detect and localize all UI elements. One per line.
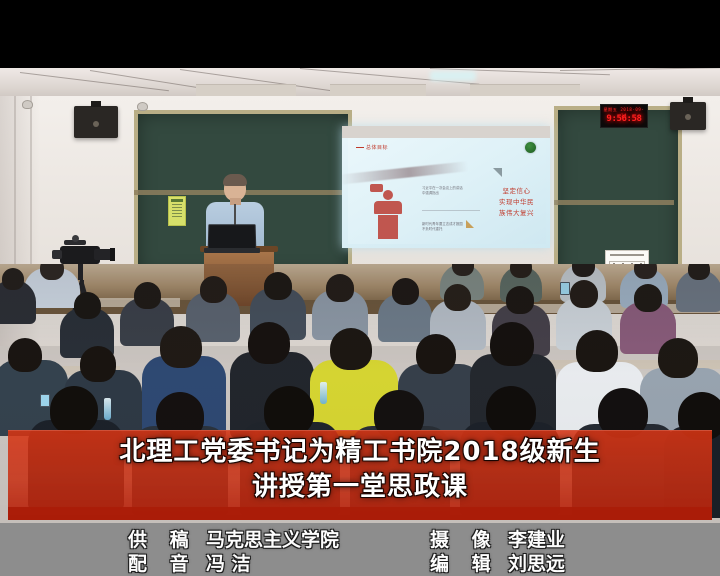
audience-member-head — [264, 272, 292, 300]
audience-member-head — [2, 268, 24, 290]
credit-value: 冯 洁 — [206, 549, 251, 576]
slide-triangle-decoration — [493, 168, 502, 177]
slide-divider — [422, 210, 480, 211]
audience-member-head — [8, 338, 42, 372]
lecturer-hair — [223, 174, 247, 186]
laptop-base — [204, 248, 260, 253]
audience-member-head — [248, 322, 290, 364]
broadcast-frame: 总体目标 习近平在一次会议上的讲话 中强调指出 新时代青年要立志成才报国 不负时… — [0, 0, 720, 576]
audience-member-head — [576, 330, 618, 372]
projector-screen: 总体目标 习近平在一次会议上的讲话 中强调指出 新时代青年要立志成才报国 不负时… — [342, 126, 550, 248]
slide-right-text: 坚定信心 实现中华民 族伟大复兴 — [499, 186, 534, 219]
credit-label: 编 辑 — [430, 549, 508, 576]
letterbox-top — [0, 0, 720, 68]
water-bottle — [320, 382, 327, 404]
audience-member-head — [490, 322, 534, 366]
audience-member-head — [486, 386, 536, 436]
slide-logo-icon — [525, 142, 536, 153]
slide-paragraph-1: 习近平在一次会议上的讲话 中强调指出 — [422, 186, 482, 196]
audience-member-head — [80, 346, 116, 382]
slide-top-bar — [342, 126, 550, 138]
audience-member-head — [134, 282, 161, 309]
credits-column-right: 摄 像 李建业 编 辑 刘思远 — [430, 525, 565, 573]
credit-label: 配 音 — [128, 549, 206, 576]
phone-screen — [40, 394, 50, 407]
audience-member-head — [330, 328, 372, 370]
audience-member-head — [200, 276, 227, 303]
slide-triangle-decoration — [466, 220, 474, 228]
credit-value: 马克思主义学院 — [206, 525, 339, 552]
audience-member-head — [688, 264, 710, 280]
credit-value: 李建业 — [508, 525, 565, 552]
credit-label: 摄 像 — [430, 525, 508, 552]
wall-speaker — [74, 106, 118, 138]
chalkboard-rail — [554, 200, 674, 205]
water-bottle — [104, 398, 111, 420]
credit-row: 编 辑 刘思远 — [430, 549, 565, 573]
title-banner: 北理工党委书记为精工书院2018级新生 讲授第一堂思政课 — [8, 430, 712, 520]
wall-seam — [14, 96, 16, 286]
slide-right-line: 坚定信心 — [499, 186, 534, 197]
audience-member-head — [40, 264, 64, 280]
led-clock-display: 星期五 2018-09-14 9:56:58 — [600, 104, 648, 128]
wall-seam — [30, 96, 32, 286]
ceiling-light — [430, 71, 476, 81]
audience-member-head — [74, 292, 101, 319]
wall-camera-icon — [137, 102, 148, 111]
audience-member-head — [416, 334, 456, 374]
slide-body: 总体目标 习近平在一次会议上的讲话 中强调指出 新时代青年要立志成才报国 不负时… — [348, 138, 546, 244]
slide-right-line: 族伟大复兴 — [499, 208, 534, 219]
slide-podium-illustration — [370, 184, 406, 242]
audience-member-head — [326, 274, 354, 302]
slide-right-line: 实现中华民 — [499, 197, 534, 208]
credit-row: 配 音 冯 洁 — [128, 549, 339, 573]
audience-member-head — [160, 326, 202, 368]
audience-member-head — [506, 286, 534, 314]
wall-camera-icon — [22, 100, 33, 109]
credit-row: 摄 像 李建业 — [430, 525, 565, 549]
led-clock-time: 9:56:58 — [603, 114, 645, 124]
slide-swoosh — [342, 161, 468, 185]
notice-sign — [168, 196, 186, 226]
title-line-2: 讲授第一堂思政课 — [8, 472, 712, 502]
audience-member-head — [634, 284, 662, 312]
banner-foot — [8, 507, 712, 520]
slide-heading: 总体目标 — [356, 144, 388, 151]
audience-member-head — [658, 338, 698, 378]
credit-row: 供 稿 马克思主义学院 — [128, 525, 339, 549]
phone-screen — [560, 282, 570, 295]
wall-speaker — [670, 102, 706, 130]
audience-member-head — [50, 386, 98, 434]
title-line-1: 北理工党委书记为精工书院2018级新生 — [8, 437, 712, 467]
audience-member-head — [444, 284, 471, 311]
credits-bar: 供 稿 马克思主义学院 配 音 冯 洁 摄 像 李建业 编 辑 刘思远 — [0, 523, 720, 576]
credits-column-left: 供 稿 马克思主义学院 配 音 冯 洁 — [128, 525, 339, 573]
credit-label: 供 稿 — [128, 525, 206, 552]
audience-member-head — [392, 278, 419, 305]
credit-value: 刘思远 — [508, 549, 565, 576]
slide-heading-text: 总体目标 — [366, 145, 388, 151]
audience-member-head — [264, 386, 314, 436]
audience-member-head — [570, 280, 598, 308]
